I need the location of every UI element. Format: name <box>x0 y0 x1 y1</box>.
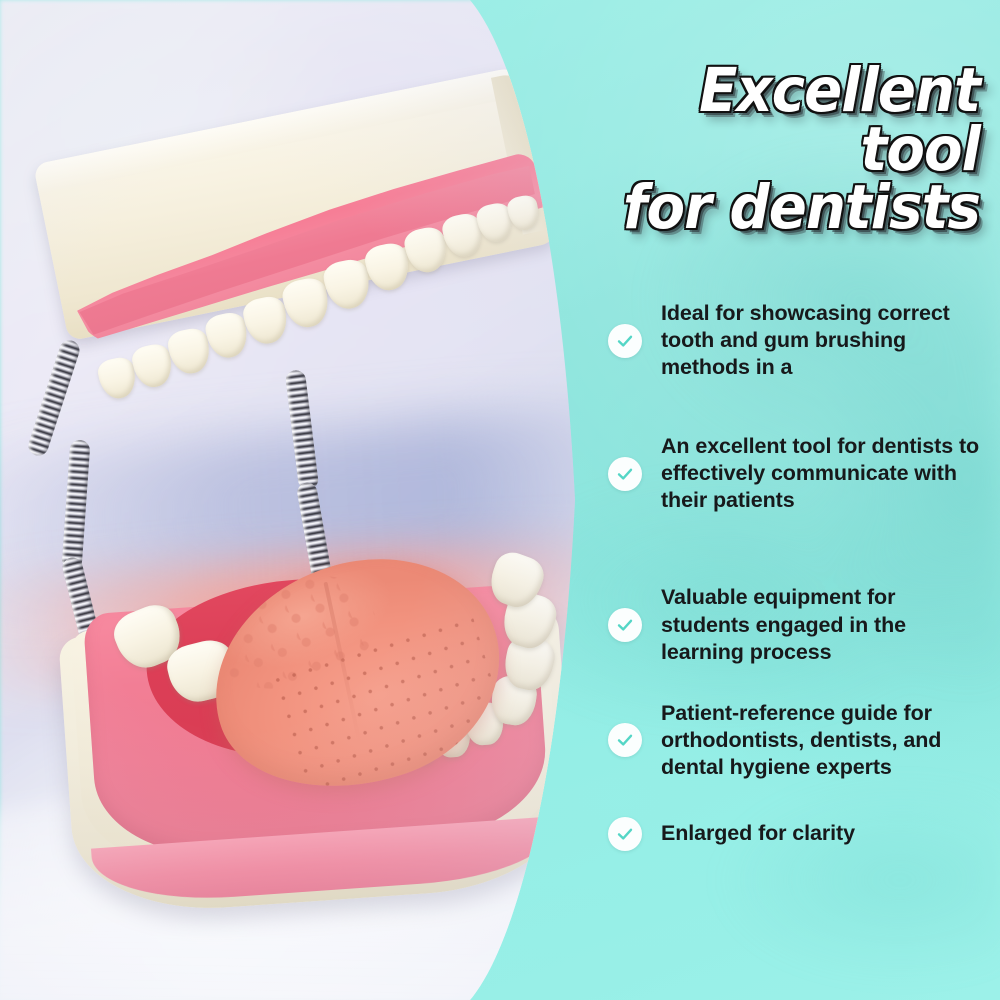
list-item-label: Ideal for showcasing correct tooth and g… <box>661 300 988 381</box>
check-circle-icon <box>608 324 642 358</box>
check-circle-icon <box>608 723 642 757</box>
list-item: An excellent tool for dentists to effect… <box>608 433 988 514</box>
list-item: Patient-reference guide for orthodontist… <box>608 700 988 781</box>
check-circle-icon <box>608 608 642 642</box>
list-item: Ideal for showcasing correct tooth and g… <box>608 300 988 381</box>
product-photo-panel <box>0 0 600 1000</box>
feature-bullet-list: Ideal for showcasing correct tooth and g… <box>608 300 988 851</box>
title-line-1: Excellent tool <box>699 55 980 185</box>
check-circle-icon <box>608 817 642 851</box>
list-item-label: Valuable equipment for students engaged … <box>661 584 988 665</box>
product-feature-poster: Excellent tool for dentists Ideal for sh… <box>0 0 1000 1000</box>
photo-vignette <box>0 0 600 1000</box>
page-title: Excellent tool for dentists <box>594 62 980 238</box>
title-line-2: for dentists <box>594 179 980 238</box>
list-item: Valuable equipment for students engaged … <box>608 584 988 665</box>
list-item-label: Enlarged for clarity <box>661 820 855 847</box>
check-circle-icon <box>608 457 642 491</box>
list-item-label: An excellent tool for dentists to effect… <box>661 433 988 514</box>
list-item-label: Patient-reference guide for orthodontist… <box>661 700 988 781</box>
list-item: Enlarged for clarity <box>608 817 988 851</box>
